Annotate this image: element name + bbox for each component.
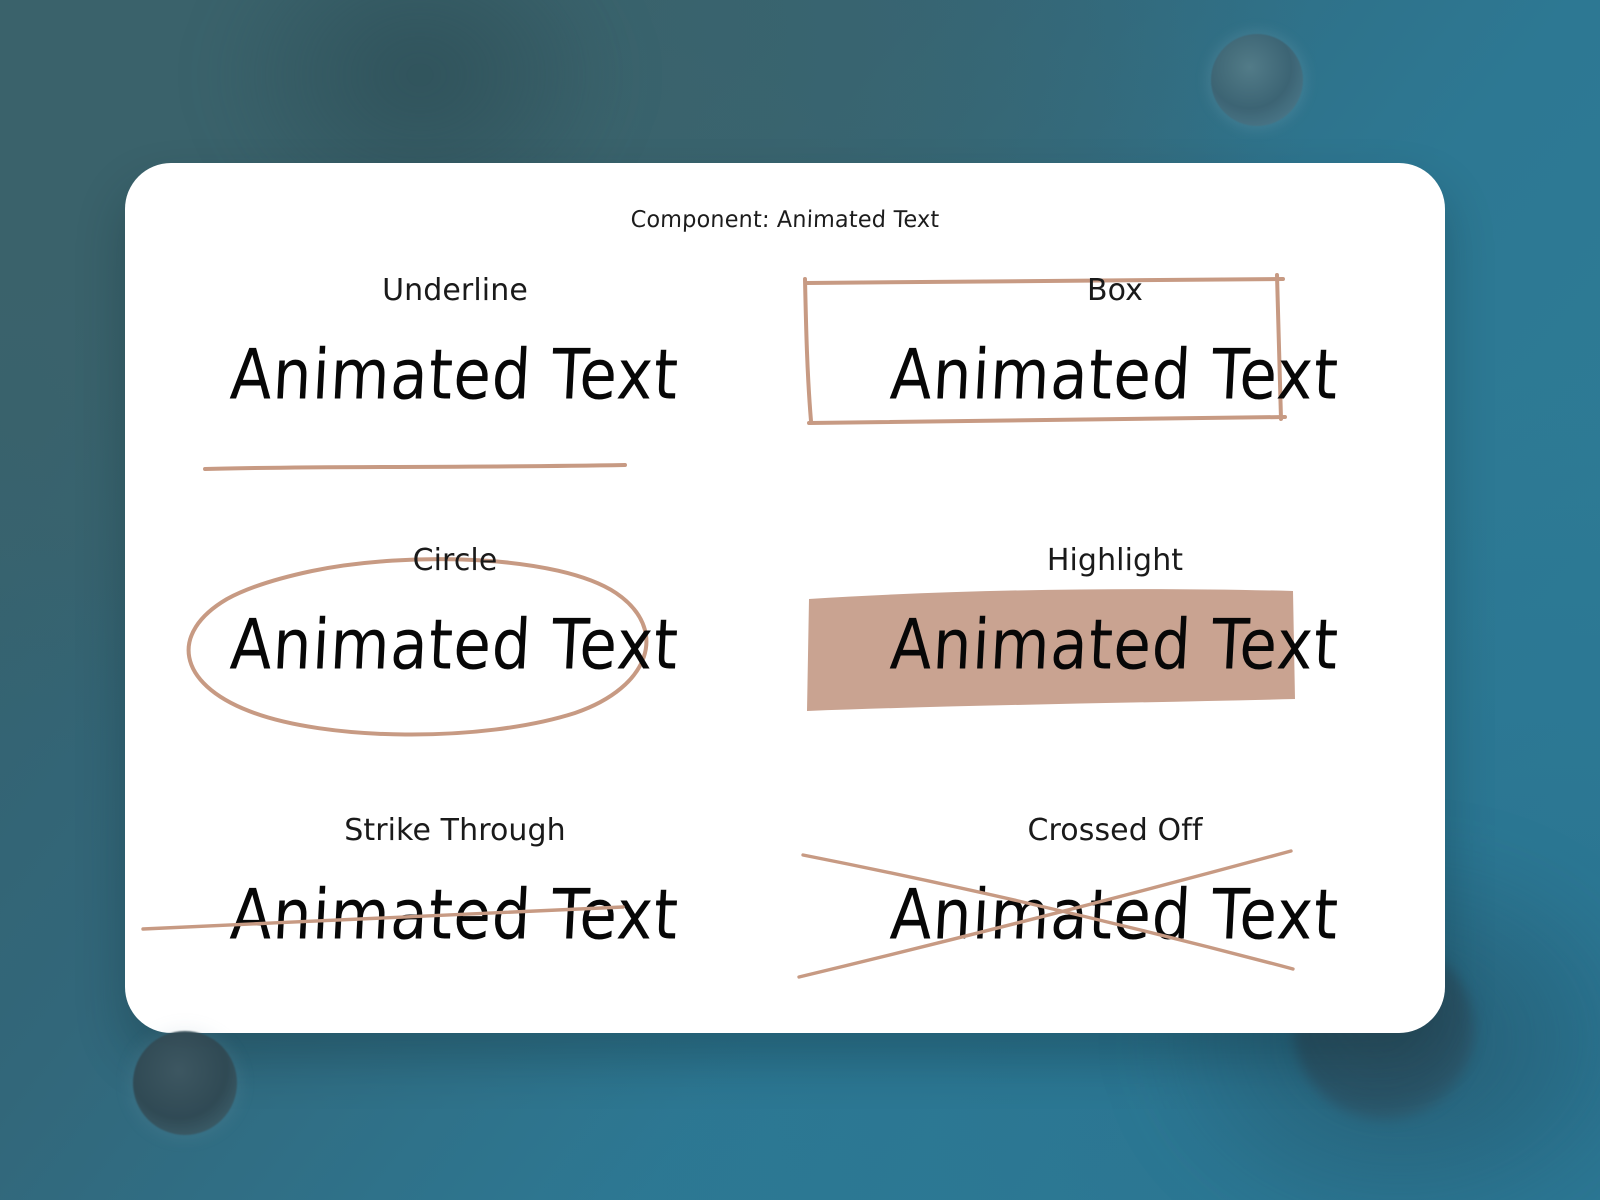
demo-underline[interactable]: Underline Animated Text xyxy=(125,261,785,517)
demo-text-wrap-underline: Animated Text xyxy=(125,309,785,439)
demo-label-box: Box xyxy=(785,273,1445,308)
animated-text-highlight: Animated Text xyxy=(885,603,1345,685)
demo-circle[interactable]: Circle Animated Text xyxy=(125,531,785,787)
animated-text-circle: Animated Text xyxy=(225,603,685,685)
demo-text-wrap-strike-through: Animated Text xyxy=(125,849,785,979)
animated-text-underline: Animated Text xyxy=(225,333,685,415)
animated-text-crossed-off: Animated Text xyxy=(885,873,1345,955)
animated-text-box: Animated Text xyxy=(885,333,1345,415)
demo-box[interactable]: Box Animated Text xyxy=(785,261,1445,517)
demo-text-wrap-box: Animated Text xyxy=(785,309,1445,439)
bubble-bottom-left xyxy=(133,1031,237,1135)
demo-crossed-off[interactable]: Crossed Off Animated Text xyxy=(785,801,1445,1033)
demo-label-crossed-off: Crossed Off xyxy=(785,813,1445,848)
demo-label-strike-through: Strike Through xyxy=(125,813,785,848)
bubble-top-right xyxy=(1211,34,1303,126)
page-title: Component: Animated Text xyxy=(144,207,1425,233)
demo-text-wrap-circle: Animated Text xyxy=(125,579,785,709)
demo-highlight[interactable]: Highlight Animated Text xyxy=(785,531,1445,787)
demo-label-circle: Circle xyxy=(125,543,785,578)
demo-label-highlight: Highlight xyxy=(785,543,1445,578)
screen: Component: Animated Text Underline Anima… xyxy=(0,0,1600,1200)
demo-label-underline: Underline xyxy=(125,273,785,308)
demo-grid: Underline Animated Text Box Animated Tex… xyxy=(125,261,1445,1031)
demo-text-wrap-crossed-off: Animated Text xyxy=(785,849,1445,979)
demo-text-wrap-highlight: Animated Text xyxy=(785,579,1445,709)
component-card: Component: Animated Text Underline Anima… xyxy=(125,163,1445,1033)
animated-text-strike-through: Animated Text xyxy=(225,873,685,955)
demo-strike-through[interactable]: Strike Through Animated Text xyxy=(125,801,785,1033)
